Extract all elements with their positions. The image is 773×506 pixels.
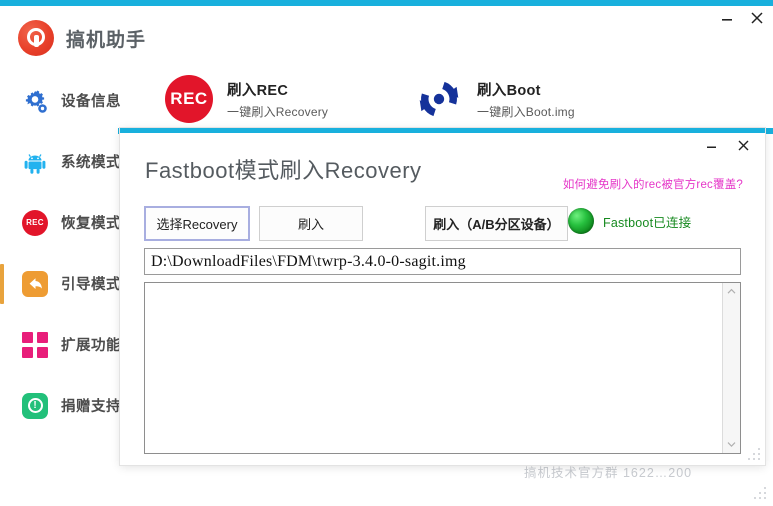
sidebar-item-boot-mode[interactable]: 引导模式 (0, 253, 120, 314)
log-scrollbar[interactable] (722, 283, 740, 453)
minimize-icon[interactable] (703, 137, 719, 153)
sidebar-item-extensions[interactable]: 扩展功能 (0, 314, 120, 375)
status-label: Fastboot已连接 (603, 212, 691, 231)
log-output-area[interactable] (144, 282, 741, 454)
main-window-controls (719, 6, 765, 30)
sidebar-item-recovery-mode[interactable]: REC 恢复模式 (0, 192, 120, 253)
hint-link[interactable]: 如何避免刷入的rec被官方rec覆盖? (563, 176, 743, 192)
sidebar-item-donate[interactable]: ! 捐赠支持 (0, 375, 120, 436)
tile-subtitle: 一键刷入Recovery (227, 103, 328, 120)
fastboot-status: Fastboot已连接 (568, 208, 691, 234)
tile-title: 刷入Boot (477, 79, 575, 100)
target-logo-icon (18, 20, 54, 56)
flash-ab-partition-button[interactable]: 刷入（A/B分区设备） (425, 206, 568, 241)
log-output-text (145, 283, 722, 453)
android-icon (22, 149, 48, 175)
fastboot-flash-recovery-dialog: Fastboot模式刷入Recovery 如何避免刷入的rec被官方rec覆盖?… (120, 128, 765, 465)
dialog-window-controls (703, 137, 751, 153)
gear-icon (22, 88, 48, 114)
tile-subtitle: 一键刷入Boot.img (477, 103, 575, 120)
sidebar-item-label: 扩展功能 (61, 334, 121, 355)
sidebar-item-system-mode[interactable]: 系统模式 (0, 131, 120, 192)
app-brand: 搞机助手 (18, 20, 146, 56)
dialog-titlebar-accent (120, 128, 765, 133)
minimize-icon[interactable] (719, 10, 735, 26)
tile-title: 刷入REC (227, 79, 328, 100)
main-window-resize-grip[interactable] (754, 487, 767, 500)
exclamation-badge-icon: ! (22, 393, 48, 419)
rec-circle-icon: REC (165, 75, 213, 123)
main-window-titlebar-accent (0, 0, 773, 6)
sidebar-item-label: 系统模式 (61, 151, 121, 172)
chevron-down-icon[interactable] (723, 436, 740, 453)
flash-rec-tile[interactable]: REC 刷入REC 一键刷入Recovery (165, 75, 415, 123)
flash-button[interactable]: 刷入 (259, 206, 363, 241)
sidebar-item-label: 引导模式 (61, 273, 121, 294)
rec-circle-icon: REC (22, 210, 48, 236)
sidebar: 设备信息 系统模式 (0, 70, 120, 436)
app-title: 搞机助手 (66, 25, 146, 52)
boot-refresh-icon (415, 75, 463, 123)
recovery-path-input[interactable]: D:\DownloadFiles\FDM\twrp-3.4.0-0-sagit.… (144, 248, 741, 275)
select-recovery-button[interactable]: 选择Recovery (144, 206, 250, 241)
chevron-up-icon[interactable] (723, 283, 740, 300)
green-led-icon (568, 208, 594, 234)
sidebar-item-label: 设备信息 (61, 90, 121, 111)
dialog-button-row: 选择Recovery 刷入 刷入（A/B分区设备） (144, 206, 568, 241)
grid-squares-icon (22, 332, 48, 358)
boot-arrow-icon (22, 271, 48, 297)
close-icon[interactable] (749, 10, 765, 26)
dialog-title: Fastboot模式刷入Recovery (145, 153, 422, 185)
dialog-resize-grip[interactable] (748, 448, 761, 461)
sidebar-item-label: 捐赠支持 (61, 395, 121, 416)
sidebar-item-device-info[interactable]: 设备信息 (0, 70, 120, 131)
action-tiles: REC 刷入REC 一键刷入Recovery 刷入 (165, 75, 765, 123)
close-icon[interactable] (735, 137, 751, 153)
flash-boot-tile[interactable]: 刷入Boot 一键刷入Boot.img (415, 75, 575, 123)
sidebar-item-label: 恢复模式 (61, 212, 121, 233)
